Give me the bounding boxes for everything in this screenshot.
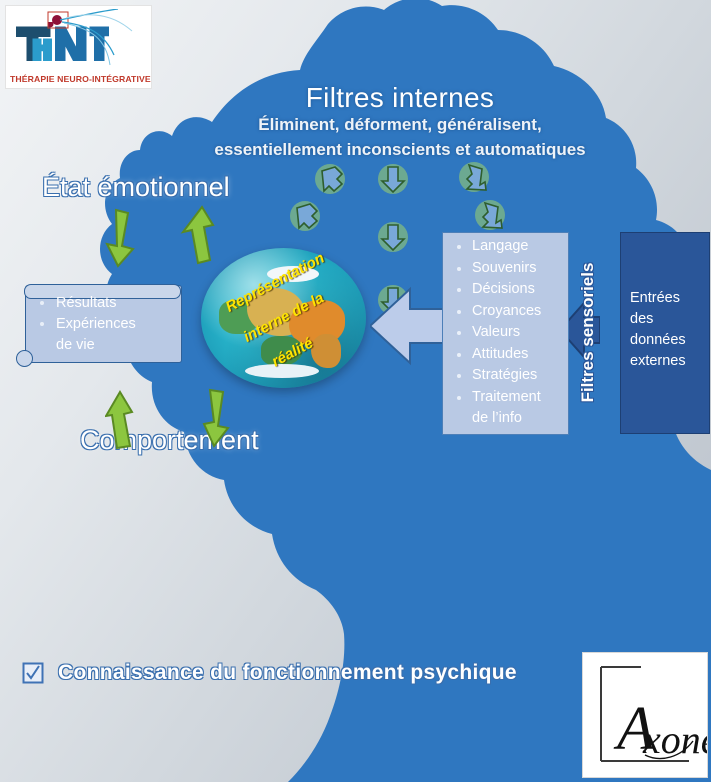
tni-tagline: THÉRAPIE NEURO-INTÉGRATIVE — [10, 74, 150, 84]
external-data-line1: Entrées — [630, 288, 708, 309]
list-item: Croyances — [452, 301, 572, 323]
green-arrow-up-icon — [178, 205, 218, 265]
label-emotional-state: État émotionnel — [42, 172, 230, 203]
tni-swoosh-icon — [44, 9, 149, 69]
external-data-line2: des — [630, 309, 708, 330]
filter-arrow-down-icon — [376, 220, 410, 254]
green-arrow-down-right-icon — [198, 388, 238, 448]
filter-arrow-down-icon — [376, 162, 410, 196]
globe-icon — [201, 248, 366, 388]
axone-logo: A xone — [582, 652, 708, 778]
page-title: Filtres internes — [200, 82, 600, 114]
green-arrow-down-icon — [102, 208, 142, 268]
list-item: Stratégies — [452, 365, 572, 387]
results-list: Résultats Expériences de vie — [36, 293, 176, 356]
list-item: Valeurs — [452, 322, 572, 344]
list-item: Souvenirs — [452, 258, 572, 280]
footer-caption: Connaissance du fonctionnement psychique — [58, 661, 517, 685]
infographic-canvas: THÉRAPIE NEURO-INTÉGRATIVE Filtres inter… — [0, 0, 711, 782]
list-item: Résultats — [36, 293, 176, 314]
external-data-text: Entrées des données externes — [630, 288, 708, 372]
list-item: de l’info — [452, 408, 572, 430]
filter-arrow-down-left-icon — [288, 199, 322, 233]
page-subtitle-line2: essentiellement inconscients et automati… — [170, 140, 630, 160]
filter-arrow-up-right-icon — [457, 160, 491, 194]
axone-logo-icon: A xone — [583, 653, 707, 777]
external-data-line4: externes — [630, 351, 708, 372]
list-item: Décisions — [452, 279, 572, 301]
tni-logo: THÉRAPIE NEURO-INTÉGRATIVE — [5, 5, 152, 89]
list-item: Attitudes — [452, 344, 572, 366]
list-item: de vie — [36, 335, 176, 356]
big-left-arrow-icon — [370, 285, 446, 367]
list-item: Traitement — [452, 387, 572, 409]
list-item: Expériences — [36, 314, 176, 335]
sensory-filters-label: Filtres sensoriels — [578, 230, 606, 440]
note-curl-bottom-left-icon — [16, 350, 33, 367]
page-subtitle-line1: Éliminent, déforment, généralisent, — [180, 115, 620, 135]
filter-arrow-down-left-icon — [313, 162, 347, 196]
filter-arrow-up-right-icon — [473, 198, 507, 232]
checkbox-checked-icon — [22, 662, 44, 684]
external-data-line3: données — [630, 330, 708, 351]
list-item: Langage — [452, 236, 572, 258]
internal-filters-list: Langage Souvenirs Décisions Croyances Va… — [452, 236, 572, 430]
green-arrow-up-left-icon — [105, 390, 145, 450]
sensory-filters-text: Filtres sensoriels — [578, 230, 598, 435]
